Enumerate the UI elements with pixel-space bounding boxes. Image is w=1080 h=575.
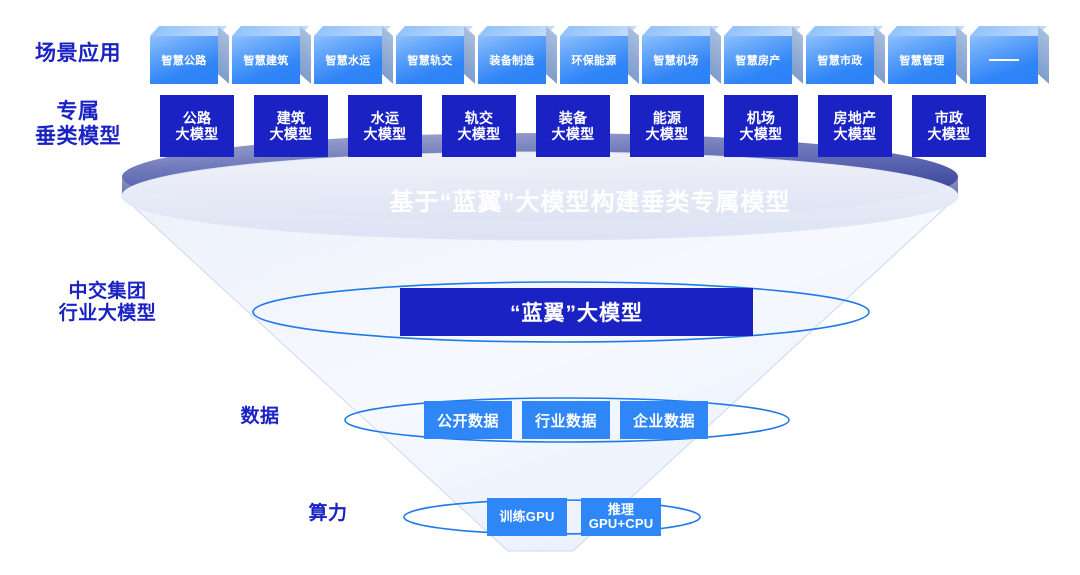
scene-app-cube[interactable] <box>970 36 1038 84</box>
vertical-model-box[interactable]: 房地产大模型 <box>818 95 892 157</box>
vertical-model-line1: 装备 <box>559 110 588 126</box>
vertical-model-box[interactable]: 机场大模型 <box>724 95 798 157</box>
vertical-model-line2: 大模型 <box>270 126 313 142</box>
vertical-model-box[interactable]: 水运大模型 <box>348 95 422 157</box>
data-source-label: 企业数据 <box>633 410 695 431</box>
compute-resource-line1: 推理 <box>608 503 634 517</box>
data-source-chip[interactable]: 企业数据 <box>620 401 708 439</box>
scene-app-cube[interactable]: 智慧市政 <box>806 36 874 84</box>
scene-application-row: 智慧公路智慧建筑智慧水运智慧轨交装备制造环保能源智慧机场智慧房产智慧市政智慧管理 <box>150 26 1058 88</box>
scene-app-cube[interactable]: 智慧轨交 <box>396 36 464 84</box>
vertical-model-box[interactable]: 能源大模型 <box>630 95 704 157</box>
scene-app-label: 智慧管理 <box>899 52 944 68</box>
vertical-model-line2: 大模型 <box>364 126 407 142</box>
cube-front-face: 智慧水运 <box>314 36 382 84</box>
vertical-model-box[interactable]: 轨交大模型 <box>442 95 516 157</box>
vertical-model-box[interactable]: 装备大模型 <box>536 95 610 157</box>
scene-app-label: 智慧房产 <box>735 52 780 68</box>
scene-app-label: 环保能源 <box>571 52 616 68</box>
compute-resource-chip[interactable]: 推理GPU+CPU <box>581 498 661 536</box>
data-source-chip[interactable]: 公开数据 <box>424 401 512 439</box>
compute-resource-line1: 训练GPU <box>499 510 554 524</box>
vertical-model-line1: 能源 <box>653 110 682 126</box>
vertical-model-line2: 大模型 <box>834 126 877 142</box>
core-model-label: “蓝翼”大模型 <box>510 297 643 327</box>
scene-app-cube[interactable]: 智慧机场 <box>642 36 710 84</box>
vertical-model-line2: 大模型 <box>176 126 219 142</box>
scene-app-placeholder-dash-icon <box>989 59 1019 61</box>
scene-app-label: 智慧轨交 <box>407 52 452 68</box>
scene-app-label: 智慧机场 <box>653 52 698 68</box>
vertical-model-line1: 市政 <box>935 110 964 126</box>
vertical-model-line1: 公路 <box>183 110 212 126</box>
scene-app-cube[interactable]: 装备制造 <box>478 36 546 84</box>
cube-front-face: 智慧轨交 <box>396 36 464 84</box>
cube-front-face: 智慧建筑 <box>232 36 300 84</box>
scene-app-label: 智慧建筑 <box>243 52 288 68</box>
vertical-model-line2: 大模型 <box>646 126 689 142</box>
scene-app-label: 智慧水运 <box>325 52 370 68</box>
vertical-model-line1: 建筑 <box>277 110 306 126</box>
compute-layer-chips: 训练GPU推理GPU+CPU <box>487 498 661 536</box>
cube-front-face: 智慧房产 <box>724 36 792 84</box>
data-source-label: 行业数据 <box>535 410 597 431</box>
cube-front-face: 装备制造 <box>478 36 546 84</box>
cube-front-face <box>970 36 1038 84</box>
scene-app-cube[interactable]: 智慧公路 <box>150 36 218 84</box>
vertical-model-line2: 大模型 <box>740 126 783 142</box>
vertical-model-line1: 轨交 <box>465 110 494 126</box>
compute-resource-line2: GPU+CPU <box>589 517 654 531</box>
vertical-model-line1: 房地产 <box>834 110 877 126</box>
vertical-model-line2: 大模型 <box>928 126 971 142</box>
scene-app-cube[interactable]: 环保能源 <box>560 36 628 84</box>
vertical-model-line1: 机场 <box>747 110 776 126</box>
scene-app-label: 装备制造 <box>489 52 534 68</box>
infographic-canvas: 场景应用 专属 垂类模型 中交集团 行业大模型 数据 算力 智慧公路智慧建筑智慧… <box>0 0 1080 575</box>
vertical-model-row: 公路大模型建筑大模型水运大模型轨交大模型装备大模型能源大模型机场大模型房地产大模… <box>160 95 1058 157</box>
data-source-chip[interactable]: 行业数据 <box>522 401 610 439</box>
data-source-label: 公开数据 <box>437 410 499 431</box>
cube-front-face: 智慧市政 <box>806 36 874 84</box>
scene-app-cube[interactable]: 智慧管理 <box>888 36 956 84</box>
scene-app-cube[interactable]: 智慧房产 <box>724 36 792 84</box>
cube-front-face: 智慧机场 <box>642 36 710 84</box>
compute-resource-chip[interactable]: 训练GPU <box>487 498 567 536</box>
scene-app-label: 智慧市政 <box>817 52 862 68</box>
cube-front-face: 智慧公路 <box>150 36 218 84</box>
vertical-model-line1: 水运 <box>371 110 400 126</box>
vertical-model-box[interactable]: 公路大模型 <box>160 95 234 157</box>
vertical-model-line2: 大模型 <box>458 126 501 142</box>
core-model-block[interactable]: “蓝翼”大模型 <box>400 288 753 336</box>
scene-app-cube[interactable]: 智慧水运 <box>314 36 382 84</box>
vertical-model-box[interactable]: 市政大模型 <box>912 95 986 157</box>
vertical-model-line2: 大模型 <box>552 126 595 142</box>
cube-front-face: 环保能源 <box>560 36 628 84</box>
cube-front-face: 智慧管理 <box>888 36 956 84</box>
data-layer-chips: 公开数据行业数据企业数据 <box>424 401 708 439</box>
scene-app-cube[interactable]: 智慧建筑 <box>232 36 300 84</box>
funnel-banner-text: 基于“蓝翼”大模型构建垂类专属模型 <box>120 182 1060 217</box>
vertical-model-box[interactable]: 建筑大模型 <box>254 95 328 157</box>
scene-app-label: 智慧公路 <box>161 52 206 68</box>
